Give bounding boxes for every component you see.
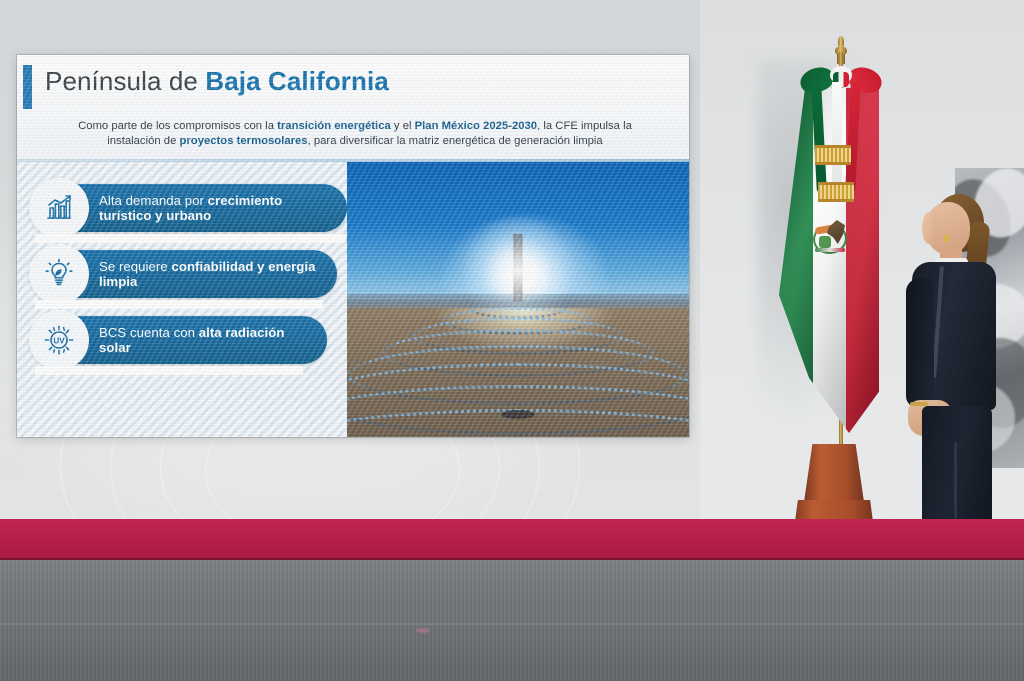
bullet-3-plain: BCS cuenta con [99, 325, 199, 340]
subtitle-seg-4: Plan México 2025-2030 [415, 120, 537, 132]
gold-tassel-band-2 [818, 182, 854, 202]
slide-body: Alta demanda por crecimiento turístico y… [17, 162, 689, 437]
bullet-2-plain: Se requiere [99, 259, 171, 274]
bullet-item-3[interactable]: UV [63, 316, 327, 364]
bullet-item-1[interactable]: Alta demanda por crecimiento turístico y… [63, 184, 347, 232]
concentrated-solar-power-tower-photo [347, 162, 689, 437]
slide-title: Península de Baja California [45, 66, 389, 97]
slide-photo-panel [347, 162, 689, 437]
crimson-baseboard [0, 519, 1024, 562]
subtitle-seg-8: , para diversificar la matriz energética… [308, 135, 603, 147]
bullet-text-2: Se requiere confiabilidad y energía limp… [99, 259, 337, 290]
slide-subtitle: Como parte de los compromisos con la tra… [39, 119, 671, 149]
ribbon-tails [812, 82, 868, 192]
tower-base [501, 410, 535, 419]
bullet-text-1: Alta demanda por crecimiento turístico y… [99, 193, 347, 224]
lightbulb-leaf-icon [29, 244, 89, 304]
face-profile [922, 212, 936, 244]
floor-marking [416, 628, 430, 633]
earring [944, 234, 949, 243]
bullet-separator-1 [35, 234, 345, 243]
slide-bullets-panel: Alta demanda por crecimiento turístico y… [17, 162, 347, 437]
lightbulb-leaf-icon-svg [42, 257, 76, 291]
projection-screen-slide[interactable]: Península de Baja California Como parte … [17, 55, 689, 437]
left-arm [906, 278, 934, 408]
bullet-separator-2 [35, 300, 323, 309]
subtitle-seg-6: instalación de [107, 135, 179, 147]
subtitle-seg-1: Como parte de los compromisos con la [78, 120, 277, 132]
subtitle-seg-3: y el [391, 120, 415, 132]
growth-chart-icon-svg [42, 191, 76, 225]
gold-tassel-band-1 [815, 145, 851, 165]
subtitle-seg-7: proyectos termosolares [180, 135, 308, 147]
bullet-item-2[interactable]: Se requiere confiabilidad y energía limp… [63, 250, 337, 298]
bullet-text-3: BCS cuenta con alta radiación solar [99, 325, 327, 356]
slide-title-highlight: Baja California [205, 66, 389, 96]
growth-chart-icon [29, 178, 89, 238]
subtitle-seg-5: , la CFE impulsa la [537, 120, 632, 132]
slide-header: Península de Baja California Como parte … [17, 55, 689, 165]
uv-sun-icon: UV [29, 310, 89, 370]
bullet-separator-3 [35, 366, 303, 375]
subtitle-seg-2: transición energética [277, 120, 391, 132]
stage-scene: Península de Baja California Como parte … [0, 0, 1024, 681]
bullet-1-plain: Alta demanda por [99, 193, 208, 208]
carpet-floor [0, 560, 1024, 681]
slide-title-plain: Península de [45, 66, 205, 96]
carpet-seam [0, 623, 1024, 625]
sun-glare [459, 217, 577, 325]
title-accent-bar [23, 65, 32, 109]
uv-sun-icon-svg: UV [42, 323, 76, 357]
svg-text:UV: UV [53, 336, 65, 345]
